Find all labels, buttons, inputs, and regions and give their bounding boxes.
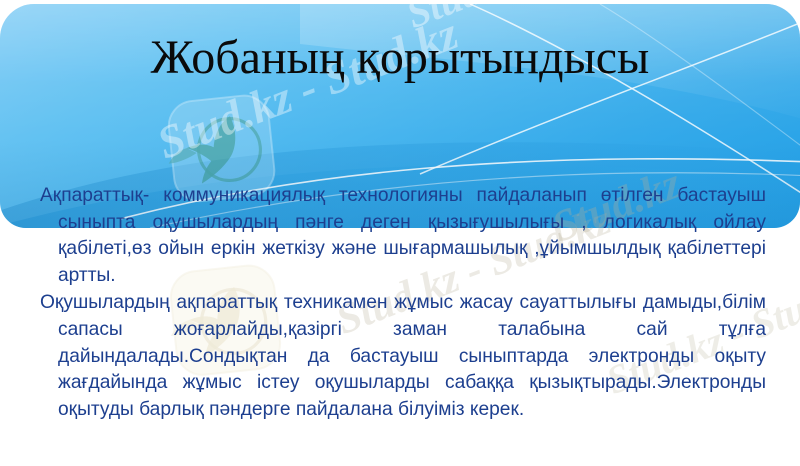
presentation-slide: Stud.kz - Stud.kz Stud.kz - Stud.kz Stud… bbox=[0, 0, 800, 466]
slide-title: Жобаның қорытындысы bbox=[0, 32, 800, 85]
slide-body: Ақпараттық- коммуникациялық технологияны… bbox=[0, 183, 800, 423]
body-paragraph-1: Ақпараттық- коммуникациялық технологияны… bbox=[0, 183, 800, 289]
body-paragraph-2: Оқушылардың ақпараттық техникамен жұмыс … bbox=[0, 290, 800, 423]
